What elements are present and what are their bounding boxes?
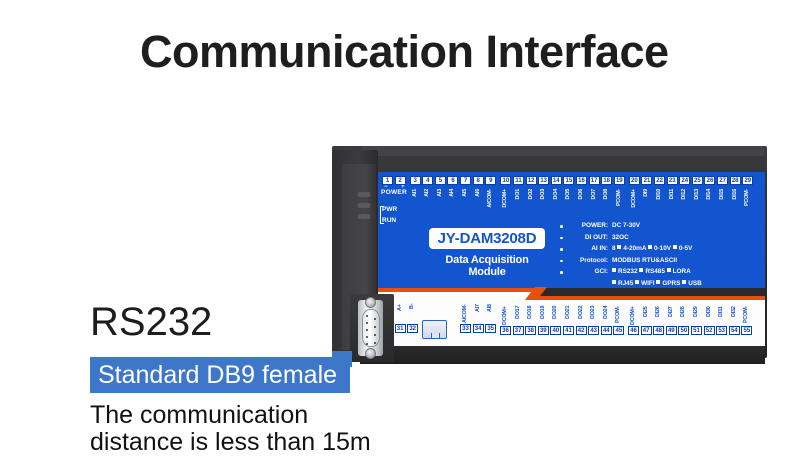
terminal-number[interactable]: 43: [588, 326, 599, 335]
spec-option-label: 0-5V: [679, 245, 693, 252]
terminal-label: AI8: [487, 304, 496, 323]
terminal-label: DO8: [603, 189, 612, 199]
spec-key: Protocol:: [566, 257, 608, 264]
terminal-number[interactable]: 34: [473, 324, 484, 333]
terminal-number[interactable]: 29: [742, 176, 753, 185]
terminal-number[interactable]: 13: [538, 176, 549, 185]
terminal-label: DO24: [603, 306, 612, 325]
terminal-label: DI10: [656, 189, 665, 200]
terminal-label: DO6: [578, 189, 587, 199]
terminal-label: DI16: [732, 189, 741, 200]
terminal-number[interactable]: 38: [525, 326, 536, 335]
terminal-number[interactable]: 15: [563, 176, 574, 185]
checkbox-icon[interactable]: [656, 280, 660, 284]
checkbox-icon[interactable]: [673, 245, 677, 249]
terminal-number[interactable]: 53: [716, 326, 727, 335]
spec-value: RS232 RS485 LORA: [612, 268, 691, 275]
terminal-number[interactable]: 51: [691, 326, 702, 335]
terminal-number[interactable]: 19: [614, 176, 625, 185]
chassis-led-3: [358, 214, 370, 219]
checkbox-icon[interactable]: [648, 245, 652, 249]
terminal-number[interactable]: 41: [563, 326, 574, 335]
terminal-number[interactable]: 52: [704, 326, 715, 335]
terminal-label: DI31: [718, 306, 727, 325]
db9-screw-top: [365, 297, 376, 308]
terminal-label: DI26: [655, 306, 664, 325]
interface-title: RS232: [90, 300, 212, 345]
model-plate: JY-DAM3208D: [429, 228, 545, 249]
terminal-label: DO1: [515, 189, 524, 199]
orange-stripe-left: [378, 288, 538, 292]
terminal-label: DO19: [540, 306, 549, 325]
terminal-number[interactable]: 6: [447, 176, 458, 185]
terminal-number[interactable]: 47: [641, 326, 652, 335]
terminal-label: DO5: [565, 189, 574, 199]
terminal-number[interactable]: 11: [513, 176, 524, 185]
terminal-number[interactable]: 50: [678, 326, 689, 335]
terminal-number[interactable]: 40: [550, 326, 561, 335]
module-subtitle: Data Acquisition Module: [429, 254, 545, 278]
terminal-number[interactable]: 49: [666, 326, 677, 335]
chassis-bottom-edge: [360, 346, 765, 364]
spec-value: DC 7-30V: [612, 222, 640, 229]
terminal-number[interactable]: 14: [551, 176, 562, 185]
page-title: Communication Interface: [140, 26, 669, 78]
chassis-top-lip: [362, 146, 765, 156]
terminal-label: DI11: [669, 189, 678, 199]
terminal-number[interactable]: 39: [538, 326, 549, 335]
terminal-label: DI32: [731, 306, 740, 325]
terminal-label: AICOM-: [462, 304, 471, 323]
power-label: POWER: [381, 189, 407, 196]
terminal-label: DI28: [680, 306, 689, 325]
spec-list: POWER:DC 7-30V DI OUT:32OC AI IN:8 4-20m…: [560, 222, 720, 291]
terminal-number[interactable]: 25: [692, 176, 703, 185]
terminal-number[interactable]: 44: [601, 326, 612, 335]
terminal-number[interactable]: 46: [628, 326, 639, 335]
terminal-label: PCOM-: [743, 306, 752, 325]
terminal-label: AI1: [412, 189, 421, 197]
terminal-number[interactable]: 1: [382, 176, 393, 185]
checkbox-icon[interactable]: [635, 280, 639, 284]
spec-row: GCI:RS232 RS485 LORA: [560, 268, 720, 280]
spec-row: AI IN:8 4-20mA 0-10V 0-5V: [560, 245, 720, 257]
terminal-label: DI30: [706, 306, 715, 325]
terminal-label: PCOM-: [615, 306, 624, 325]
terminal-number[interactable]: 28: [730, 176, 741, 185]
terminal-label: DCOM+: [502, 189, 511, 208]
terminal-label: PCOM-: [744, 189, 753, 206]
terminal-label: B-: [409, 304, 418, 323]
terminal-number[interactable]: 31: [395, 324, 406, 333]
checkbox-icon[interactable]: [639, 268, 643, 272]
interface-caption: The communication distance is less than …: [90, 402, 371, 456]
chassis-led-2: [358, 203, 370, 208]
terminal-number[interactable]: 27: [717, 176, 728, 185]
spec-key: AI IN:: [566, 245, 608, 252]
terminal-number[interactable]: 45: [613, 326, 624, 335]
terminal-label: DO20: [552, 306, 561, 325]
terminal-number[interactable]: 36: [500, 326, 511, 335]
checkbox-icon[interactable]: [612, 268, 616, 272]
terminal-label: AI4: [449, 189, 458, 197]
terminal-number[interactable]: 7: [460, 176, 471, 185]
terminal-number[interactable]: 12: [526, 176, 537, 185]
spec-value: 32OC: [612, 234, 629, 241]
terminal-number[interactable]: 33: [460, 324, 471, 333]
terminal-label: DI14: [706, 189, 715, 200]
spec-row: Protocol:MODBUS RTU&ASCII: [560, 257, 720, 269]
spec-option-label: WIFI: [641, 280, 656, 287]
terminal-label: DI25: [643, 306, 652, 325]
chassis-led-1: [358, 192, 370, 197]
terminal-number[interactable]: 23: [667, 176, 678, 185]
spec-option-label: USB: [688, 280, 702, 287]
terminal-number[interactable]: 21: [641, 176, 652, 185]
interface-badge: Standard DB9 female: [90, 357, 350, 393]
terminal-label: DI15: [719, 189, 728, 200]
terminal-label: DO2: [528, 189, 537, 199]
terminal-label: DCOM+: [630, 306, 639, 325]
led-label-pwr: PWR: [382, 204, 397, 215]
bullet-icon: [560, 248, 563, 251]
terminal-number[interactable]: 3: [410, 176, 421, 185]
spec-option-label: RS485: [645, 268, 666, 275]
db9-screw-bottom: [365, 348, 376, 359]
terminal-number[interactable]: 55: [741, 326, 752, 335]
terminal-label: DCOM+: [631, 189, 640, 208]
terminal-label: DO23: [590, 306, 599, 325]
spec-option-label: LORA: [673, 268, 691, 275]
terminal-number[interactable]: 54: [729, 326, 740, 335]
spec-row: DI OUT:32OC: [560, 234, 720, 246]
terminal-number[interactable]: 48: [653, 326, 664, 335]
spec-value: 8 4-20mA 0-10V 0-5V: [612, 245, 692, 252]
checkbox-icon[interactable]: [682, 280, 686, 284]
terminal-label: DO18: [527, 306, 536, 325]
spec-option-label: 0-10V: [654, 245, 673, 252]
terminal-number[interactable]: 5: [435, 176, 446, 185]
terminal-label: AI5: [462, 189, 471, 197]
page-root: Communication Interface − + POWER PWR RU…: [0, 0, 790, 469]
spec-key: DI OUT:: [566, 234, 608, 241]
terminal-number[interactable]: 4: [422, 176, 433, 185]
terminal-label: DI9: [643, 189, 652, 197]
terminal-number[interactable]: 20: [629, 176, 640, 185]
orange-stripe-right: [535, 296, 765, 300]
terminal-label: DI29: [693, 306, 702, 325]
terminal-label: A+: [397, 304, 406, 323]
terminal-number[interactable]: 8: [473, 176, 484, 185]
checkbox-icon[interactable]: [612, 280, 616, 284]
led-labels: PWR RUN: [382, 204, 397, 226]
terminal-label: DCOM+: [502, 306, 511, 325]
terminal-number[interactable]: 9: [485, 176, 496, 185]
checkbox-icon[interactable]: [667, 268, 671, 272]
terminal-number[interactable]: 10: [500, 176, 511, 185]
terminal-label: DI27: [668, 306, 677, 325]
terminal-label: AI2: [424, 189, 433, 197]
terminal-number[interactable]: 17: [589, 176, 600, 185]
terminal-label: DO22: [578, 306, 587, 325]
checkbox-icon[interactable]: [617, 245, 621, 249]
terminal-label: DO17: [515, 306, 524, 325]
terminal-number[interactable]: 42: [576, 326, 587, 335]
spec-option-label: RS232: [618, 268, 639, 275]
spec-key: POWER:: [566, 222, 608, 229]
terminal-number[interactable]: 2: [395, 176, 406, 185]
terminal-number[interactable]: 37: [513, 326, 524, 335]
spec-row: POWER:DC 7-30V: [560, 222, 720, 234]
terminal-number[interactable]: 24: [679, 176, 690, 185]
spec-value: RJ45 WIFI GPRS USB: [612, 280, 702, 287]
db9-shell: [362, 309, 380, 347]
rj45-notch: [431, 333, 440, 339]
terminal-number[interactable]: 26: [704, 176, 715, 185]
terminal-number[interactable]: 18: [601, 176, 612, 185]
terminal-number[interactable]: 16: [576, 176, 587, 185]
terminal-label: AICOM-: [487, 189, 496, 208]
terminal-label: DO3: [540, 189, 549, 199]
terminal-label: AI6: [475, 189, 484, 197]
spec-key: GCI:: [566, 268, 608, 275]
spec-option-label: 4-20mA: [623, 245, 648, 252]
bullet-icon: [560, 271, 563, 274]
terminal-label: AI3: [437, 189, 446, 197]
bullet-icon: [560, 225, 563, 228]
led-label-run: RUN: [382, 215, 397, 226]
spec-option-label: GPRS: [662, 280, 682, 287]
spec-value: MODBUS RTU&ASCII: [612, 257, 677, 264]
rj45-icon: [422, 320, 447, 339]
terminal-label: DO21: [565, 306, 574, 325]
terminal-label: PCOM-: [616, 189, 625, 206]
device-photo: − + POWER PWR RUN JY-DAM3208D Data Acqui…: [332, 146, 772, 368]
spec-option-label: RJ45: [618, 280, 635, 287]
terminal-label: DI12: [681, 189, 690, 200]
terminal-number[interactable]: 22: [654, 176, 665, 185]
terminal-label: AI7: [475, 304, 484, 323]
spec-row: RJ45 WIFI GPRS USB: [560, 280, 720, 292]
bullet-icon: [560, 260, 563, 263]
terminal-number[interactable]: 32: [407, 324, 418, 333]
terminal-label: DO4: [553, 189, 562, 199]
terminal-label: DO7: [591, 189, 600, 199]
terminal-number[interactable]: 35: [485, 324, 496, 333]
db9-connector: [358, 300, 383, 356]
terminal-label: DI13: [694, 189, 703, 200]
bullet-icon: [560, 237, 563, 240]
